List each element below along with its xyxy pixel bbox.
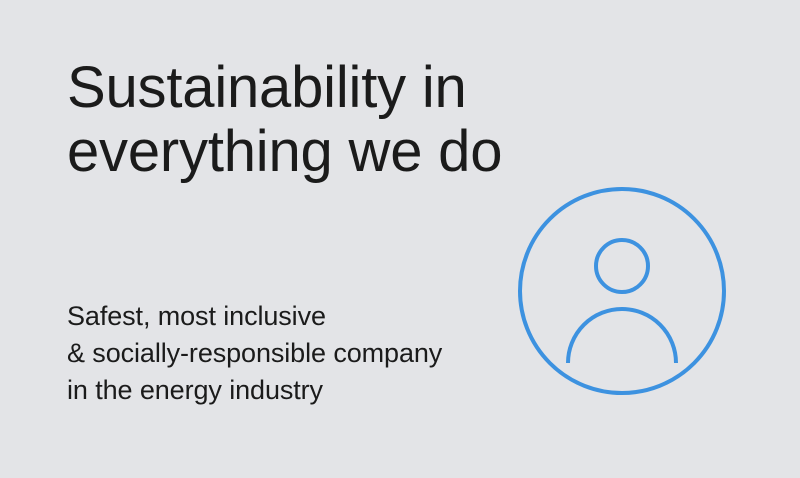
text-block: Sustainability in everything we do Safes…: [0, 0, 530, 478]
person-in-circle-icon: [516, 185, 728, 397]
sustainability-slide: Sustainability in everything we do Safes…: [0, 0, 800, 478]
subtitle-text: Safest, most inclusive & socially-respon…: [67, 298, 517, 409]
head-circle-shape: [596, 240, 648, 292]
page-title: Sustainability in everything we do: [67, 56, 537, 184]
shoulders-arc-shape: [568, 309, 676, 363]
person-icon-graphic: [516, 185, 728, 397]
